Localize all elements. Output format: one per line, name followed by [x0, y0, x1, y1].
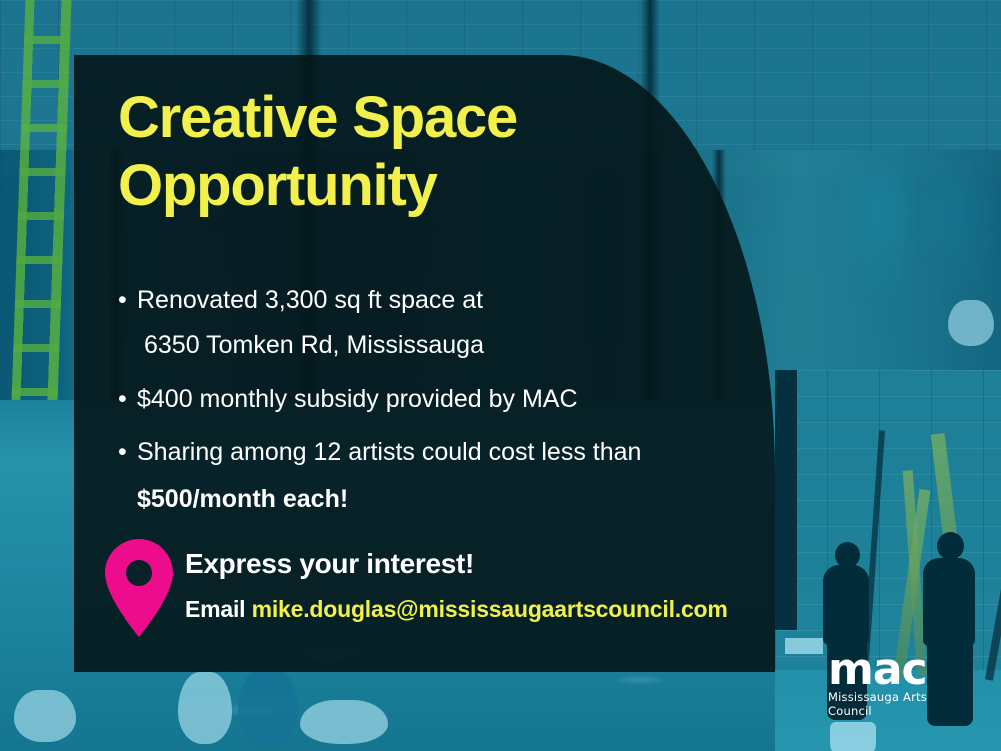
logo-tagline: Mississauga Arts Council [828, 690, 973, 718]
list-item-text: Renovated 3,300 sq ft space at 6350 Tomk… [137, 285, 758, 362]
poster-canvas: Creative Space Opportunity • Renovated 3… [0, 0, 1001, 751]
list-item-text: Sharing among 12 artists could cost less… [137, 437, 758, 516]
cta-heading: Express your interest! [185, 548, 785, 580]
page-title: Creative Space Opportunity [118, 84, 738, 221]
headline-line-2: Opportunity [118, 152, 738, 220]
list-item-line: 6350 Tomken Rd, Mississauga [144, 330, 758, 361]
cta-email-line: Email mike.douglas@mississaugaartscounci… [185, 596, 785, 623]
mac-logo: mac Mississauga Arts Council [828, 652, 973, 704]
call-to-action: Express your interest! Email mike.dougla… [185, 548, 785, 623]
email-address[interactable]: mike.douglas@mississaugaartscouncil.com [252, 596, 728, 622]
list-item: • $400 monthly subsidy provided by MAC [118, 384, 758, 415]
list-item: • Renovated 3,300 sq ft space at 6350 To… [118, 285, 758, 362]
list-item-line: $400 monthly subsidy provided by MAC [137, 384, 758, 415]
list-item-line: Sharing among 12 artists could cost less… [137, 437, 758, 468]
list-item-text: $400 monthly subsidy provided by MAC [137, 384, 758, 415]
map-pin-icon [105, 539, 173, 637]
list-item-line-emphasis: $500/month each! [137, 484, 758, 515]
feature-list: • Renovated 3,300 sq ft space at 6350 To… [118, 285, 758, 537]
bullet-dot-icon: • [118, 437, 137, 468]
bullet-dot-icon: • [118, 384, 137, 415]
logo-wordmark: mac [828, 652, 973, 688]
headline-line-1: Creative Space [118, 85, 517, 150]
email-label: Email [185, 596, 245, 622]
list-item: • Sharing among 12 artists could cost le… [118, 437, 758, 516]
bullet-dot-icon: • [118, 285, 137, 316]
list-item-line: Renovated 3,300 sq ft space at [137, 285, 758, 316]
